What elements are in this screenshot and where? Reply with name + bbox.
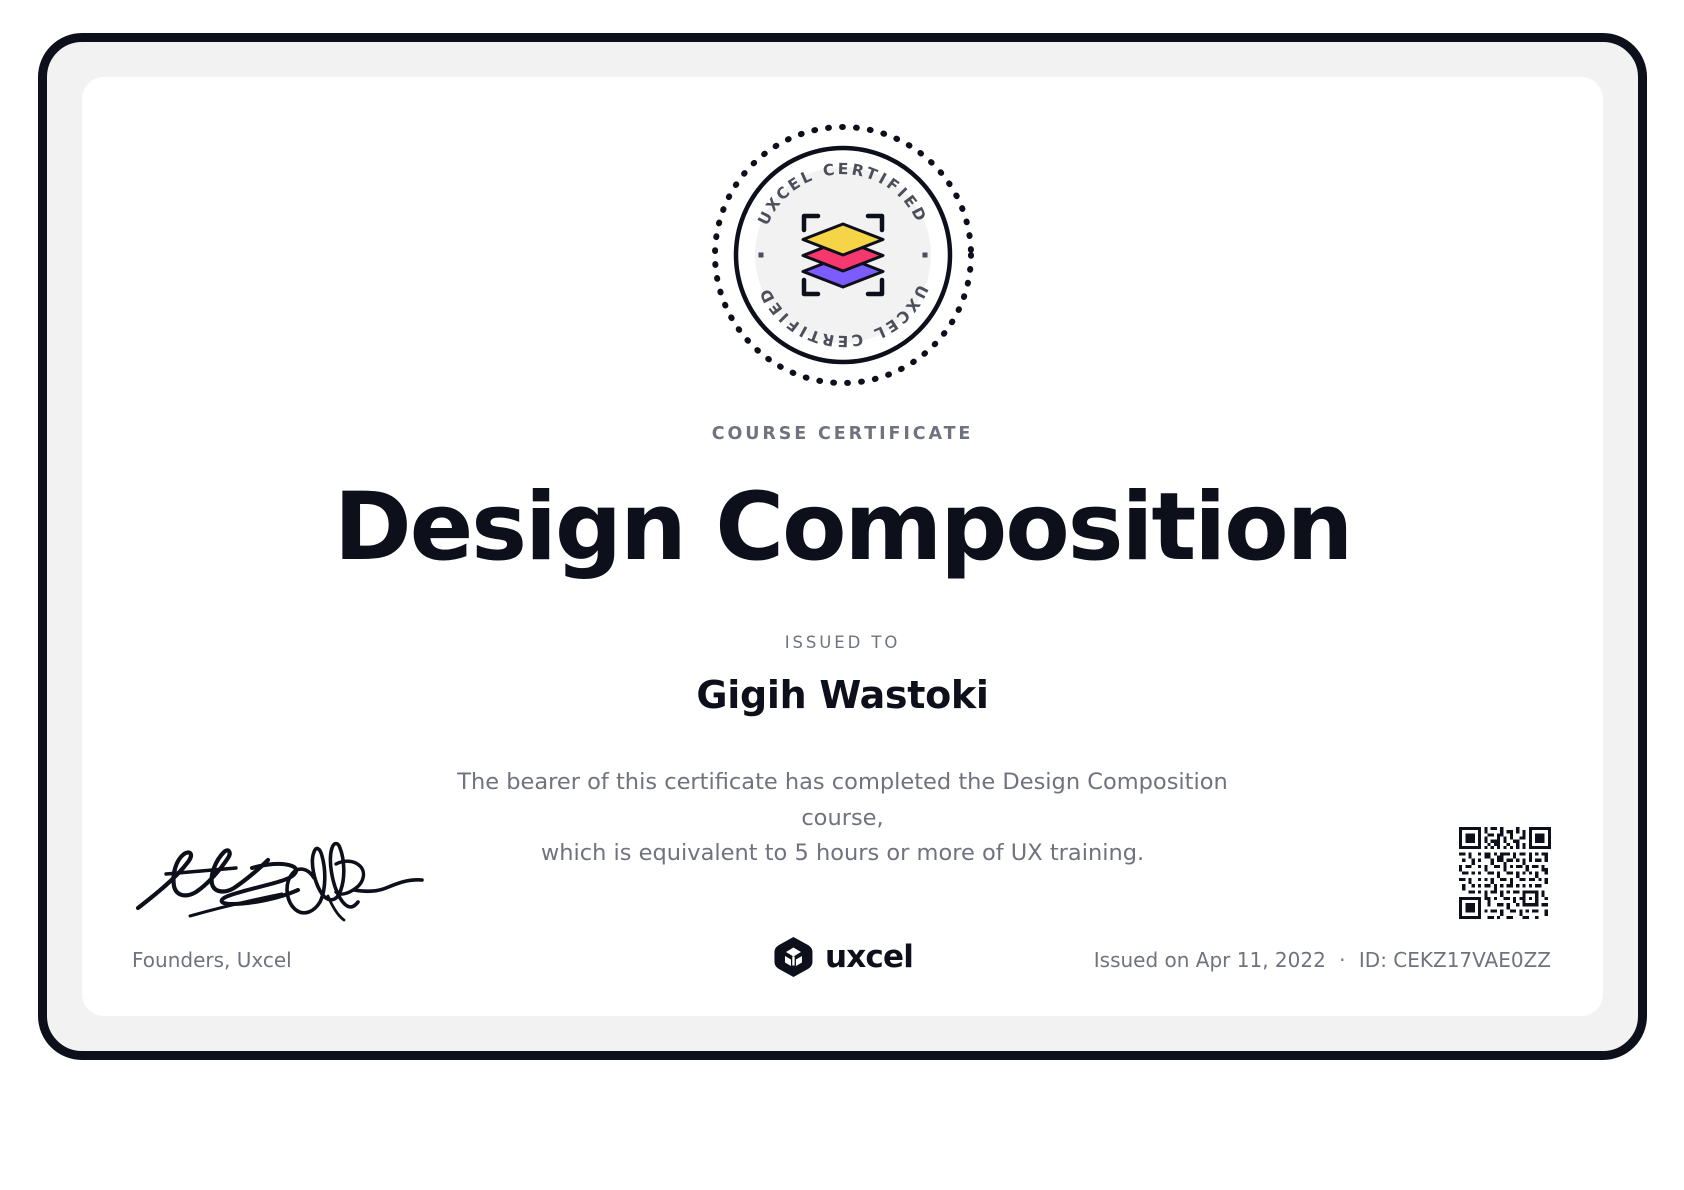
layers-stack-icon (803, 224, 883, 287)
qr-code-graphic (1459, 827, 1551, 919)
page-title: Design Composition (82, 477, 1603, 579)
certificate-frame: UXCEL CERTIFIED UXCEL CERTIFIED (38, 33, 1647, 1060)
meta-separator: · (1332, 948, 1352, 972)
certificate-id-text: ID: CEKZ17VAE0ZZ (1359, 948, 1551, 972)
issued-to-label: ISSUED TO (82, 633, 1603, 652)
description-line-2: which is equivalent to 5 hours or more o… (541, 840, 1144, 866)
founder-signatures (132, 834, 462, 924)
seal-bullet-left (758, 253, 763, 258)
issue-metadata: Issued on Apr 11, 2022 · ID: CEKZ17VAE0Z… (1094, 948, 1551, 972)
certificate-type-eyebrow: COURSE CERTIFICATE (82, 424, 1603, 444)
uxcel-logo: uxcel (772, 936, 913, 978)
certificate-card: UXCEL CERTIFIED UXCEL CERTIFIED (82, 77, 1603, 1016)
qr-code[interactable] (1459, 827, 1551, 919)
issued-on-text: Issued on Apr 11, 2022 (1094, 948, 1326, 972)
uxcel-certified-seal: UXCEL CERTIFIED UXCEL CERTIFIED (707, 119, 979, 391)
seal-bullet-right (922, 253, 927, 258)
description-line-1: The bearer of this certificate has compl… (457, 769, 1228, 831)
signature-graphic (132, 834, 432, 922)
founders-label: Founders, Uxcel (132, 948, 292, 972)
uxcel-mark-icon (772, 936, 814, 978)
seal-graphic: UXCEL CERTIFIED UXCEL CERTIFIED (707, 119, 979, 391)
certificate-description: The bearer of this certificate has compl… (423, 765, 1263, 872)
recipient-name: Gigih Wastoki (82, 673, 1603, 717)
uxcel-wordmark: uxcel (825, 939, 913, 975)
